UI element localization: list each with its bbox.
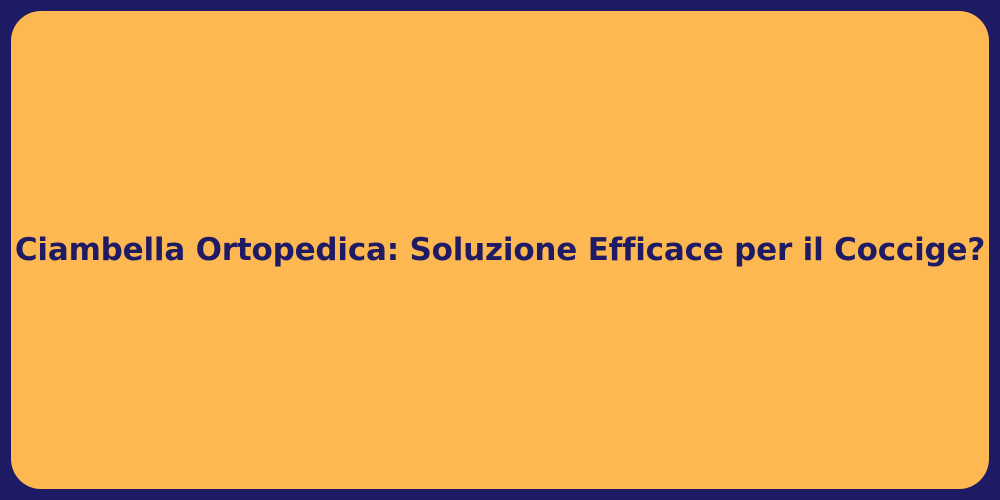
page-title: Ciambella Ortopedica: Soluzione Efficace… [11, 231, 989, 270]
page-frame: Ciambella Ortopedica: Soluzione Efficace… [0, 0, 1000, 500]
headline-card: Ciambella Ortopedica: Soluzione Efficace… [11, 11, 989, 489]
